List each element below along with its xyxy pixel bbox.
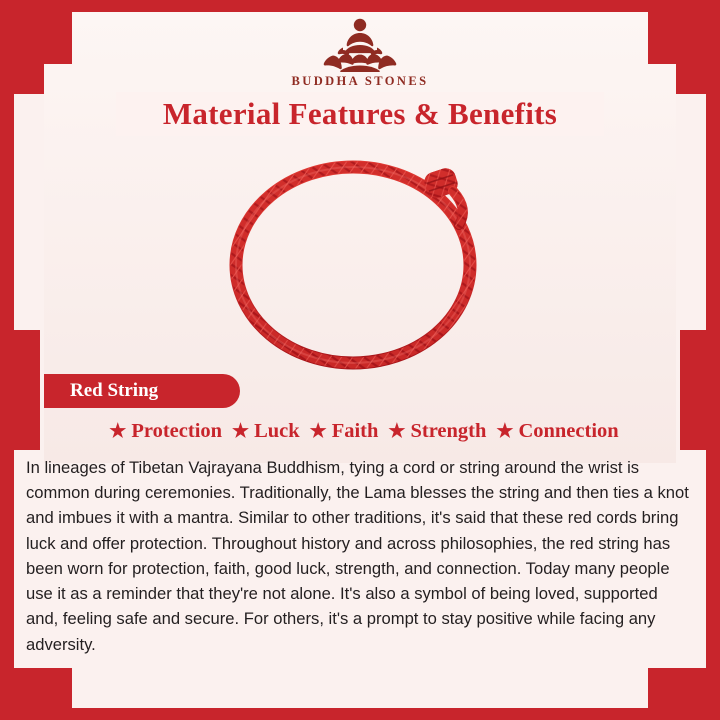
star-icon: ★ [388,422,405,441]
benefit-item-protection: ★ Protection [104,420,227,443]
page-title: Material Features & Benefits [116,92,604,136]
star-icon: ★ [232,422,249,441]
benefit-item-connection: ★ Connection [491,420,623,443]
frame-band-right [706,0,720,720]
star-icon: ★ [310,422,327,441]
product-label-tab: Red String [44,374,240,408]
benefit-label: Faith [332,420,379,443]
frame-edge-left-middle [14,330,40,450]
benefit-item-luck: ★ Luck [227,420,305,443]
benefits-list: ★ Protection ★ Luck ★ Faith ★ Strength ★… [44,420,684,443]
star-icon: ★ [496,422,513,441]
frame-band-bottom [0,708,720,720]
benefit-label: Luck [254,420,300,443]
infographic-page: BUDDHA STONES Material Features & Benefi… [0,0,720,720]
lotus-meditation-figure-icon [302,14,418,72]
description-text: In lineages of Tibetan Vajrayana Buddhis… [22,455,698,705]
product-image [44,140,676,380]
benefit-label: Connection [518,420,618,443]
benefit-label: Strength [410,420,486,443]
benefit-label: Protection [131,420,222,443]
brand-logo: BUDDHA STONES [0,14,720,89]
product-label-text: Red String [44,380,180,402]
red-braided-string-bracelet-image [210,145,510,375]
frame-band-left [0,0,14,720]
brand-name: BUDDHA STONES [292,74,429,89]
benefit-item-strength: ★ Strength [383,420,491,443]
benefit-item-faith: ★ Faith [305,420,384,443]
page-title-text: Material Features & Benefits [163,96,557,132]
frame-band-top [0,0,720,12]
star-icon: ★ [109,422,126,441]
